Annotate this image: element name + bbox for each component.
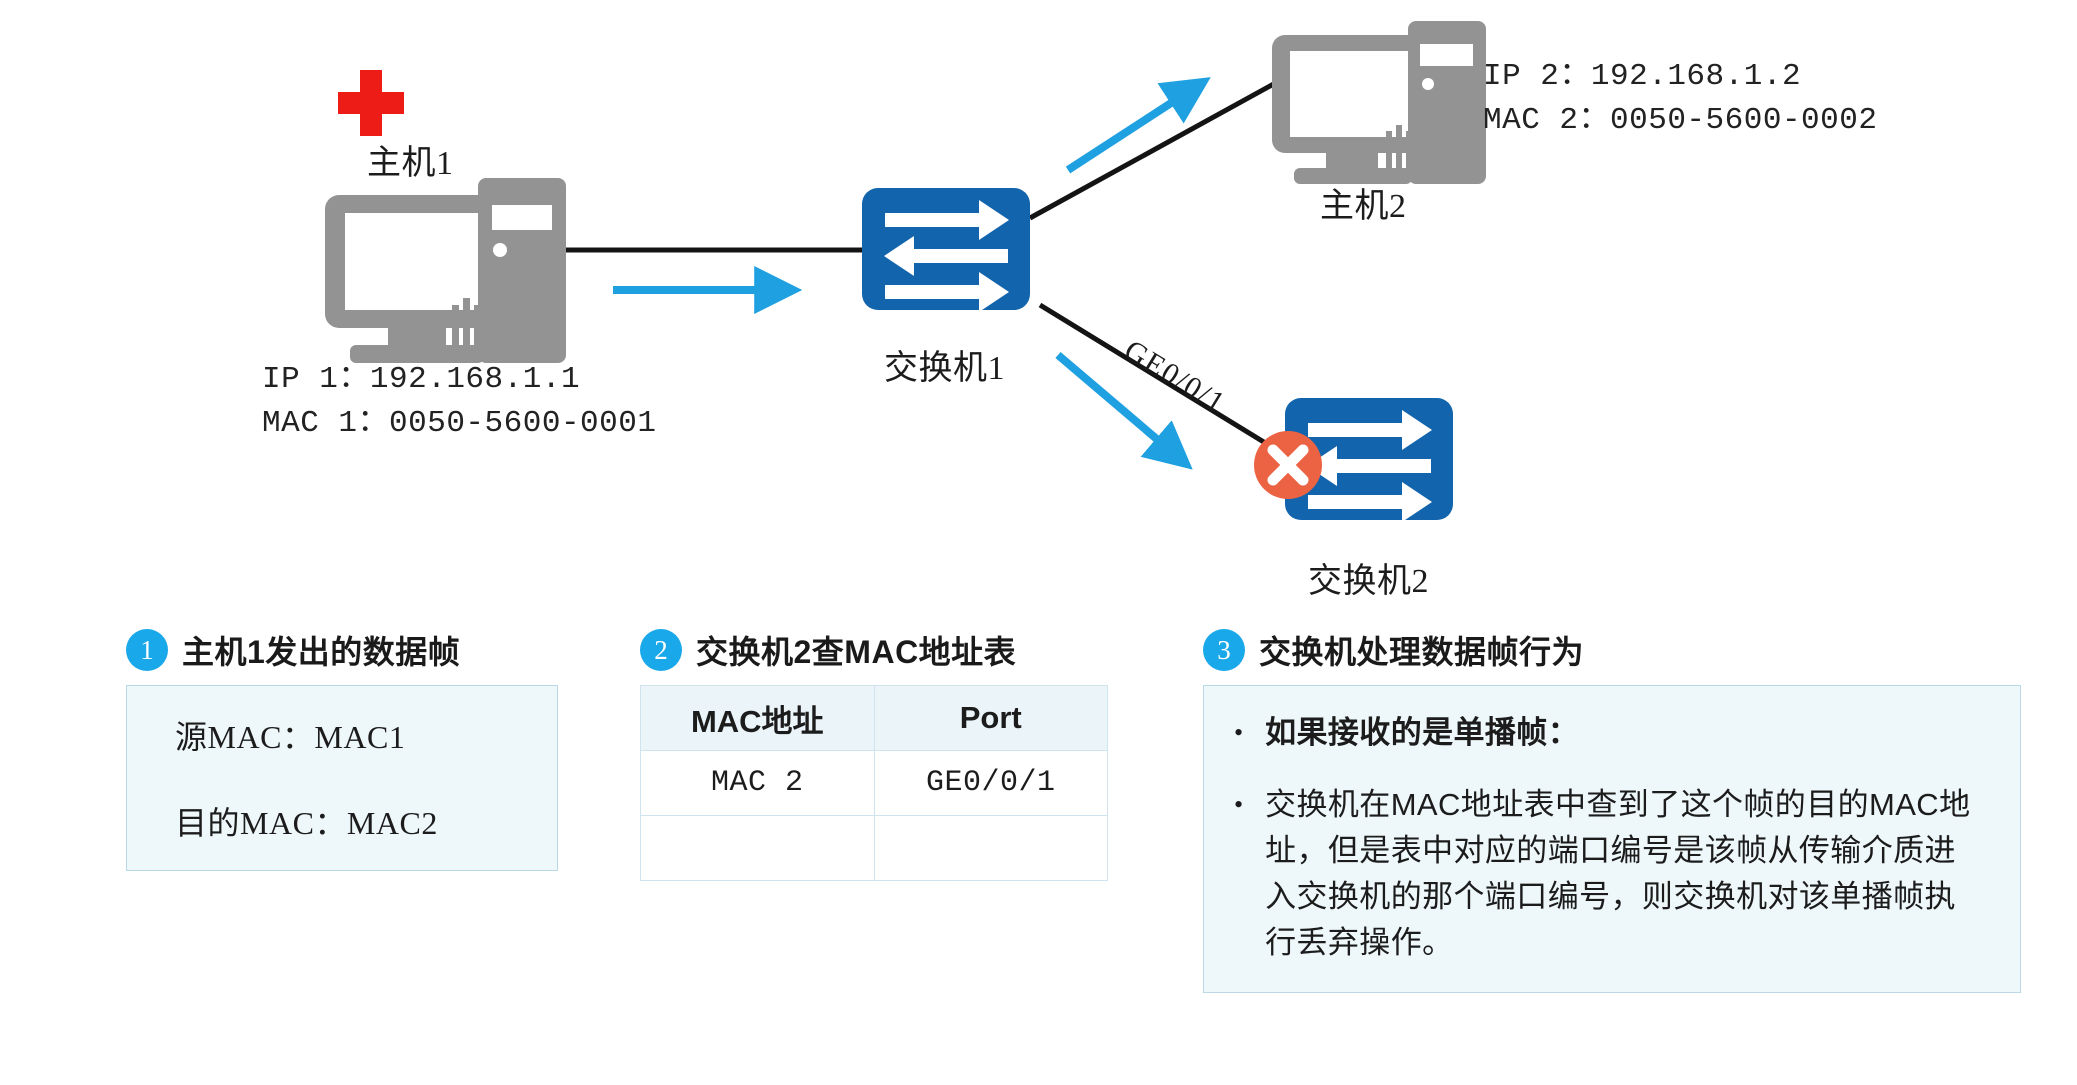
behavior-bullet-text: 如果接收的是单播帧： [1265, 710, 1579, 756]
red-cross-icon [338, 70, 404, 136]
link-switch1-host2 [1030, 75, 1290, 218]
bullet-marker-icon: • [1230, 782, 1243, 828]
switch1-label: 交换机1 [884, 340, 1005, 389]
behavior-bullet: • 如果接收的是单播帧： [1230, 710, 1986, 756]
table-header-row: MAC地址 Port [641, 686, 1108, 751]
section-2-header: 2 交换机2查MAC地址表 [640, 627, 1108, 673]
cell-mac: MAC 2 [641, 751, 875, 816]
frame-destination-mac: 目的MAC：MAC2 [175, 798, 557, 844]
frame-source-mac: 源MAC：MAC1 [175, 712, 557, 758]
cell-port-empty [874, 816, 1108, 881]
section-2-badge: 2 [640, 629, 682, 671]
host1-computer-icon [325, 178, 566, 363]
section-1-header: 1 主机1发出的数据帧 [126, 627, 558, 673]
host2-ip: IP 2：192.168.1.2 [1483, 55, 1877, 99]
section-3-header: 3 交换机处理数据帧行为 [1203, 627, 2021, 673]
behavior-bullet-text: 交换机在MAC地址表中查到了这个帧的目的MAC地址，但是表中对应的端口编号是该帧… [1265, 782, 1986, 966]
section-2-title: 交换机2查MAC地址表 [696, 627, 1016, 673]
section-mac-table: 2 交换机2查MAC地址表 MAC地址 Port MAC 2 GE0/0/1 [640, 627, 1108, 881]
table-row [641, 816, 1108, 881]
mac-address-table: MAC地址 Port MAC 2 GE0/0/1 [640, 685, 1108, 881]
host2-computer-icon [1272, 21, 1486, 184]
host2-address-block: IP 2：192.168.1.2 MAC 2：0050-5600-0002 [1483, 55, 1877, 143]
host1-address-block: IP 1：192.168.1.1 MAC 1：0050-5600-0001 [262, 358, 656, 446]
section-switch-behavior: 3 交换机处理数据帧行为 • 如果接收的是单播帧： • 交换机在MAC地址表中查… [1203, 627, 2021, 993]
section-1-title: 主机1发出的数据帧 [182, 627, 460, 673]
column-header-port: Port [874, 686, 1108, 751]
table-row: MAC 2 GE0/0/1 [641, 751, 1108, 816]
bullet-marker-icon: • [1230, 710, 1243, 756]
diagram-canvas: GE0/0/1 主机1 IP 1：192.168.1.1 MAC 1：0050-… [0, 0, 2077, 1085]
host2-label: 主机2 [1320, 178, 1407, 227]
frame-detail-panel: 源MAC：MAC1 目的MAC：MAC2 [126, 685, 558, 871]
host1-label: 主机1 [367, 135, 454, 184]
host2-mac: MAC 2：0050-5600-0002 [1483, 99, 1877, 143]
arrow-switch1-to-host2 [1068, 92, 1188, 170]
section-1-badge: 1 [126, 629, 168, 671]
cell-port: GE0/0/1 [874, 751, 1108, 816]
behavior-detail-panel: • 如果接收的是单播帧： • 交换机在MAC地址表中查到了这个帧的目的MAC地址… [1203, 685, 2021, 993]
red-x-circle-icon [1254, 431, 1322, 499]
host1-ip: IP 1：192.168.1.1 [262, 358, 656, 402]
section-frame-sent: 1 主机1发出的数据帧 源MAC：MAC1 目的MAC：MAC2 [126, 627, 558, 871]
host1-mac: MAC 1：0050-5600-0001 [262, 402, 656, 446]
switch2-label: 交换机2 [1308, 553, 1429, 602]
switch1-icon [862, 188, 1030, 312]
cell-mac-empty [641, 816, 875, 881]
section-3-badge: 3 [1203, 629, 1245, 671]
section-3-title: 交换机处理数据帧行为 [1259, 627, 1584, 673]
behavior-bullet: • 交换机在MAC地址表中查到了这个帧的目的MAC地址，但是表中对应的端口编号是… [1230, 782, 1986, 966]
column-header-mac: MAC地址 [641, 686, 875, 751]
port-label-ge0-0-1: GE0/0/1 [1119, 334, 1232, 421]
